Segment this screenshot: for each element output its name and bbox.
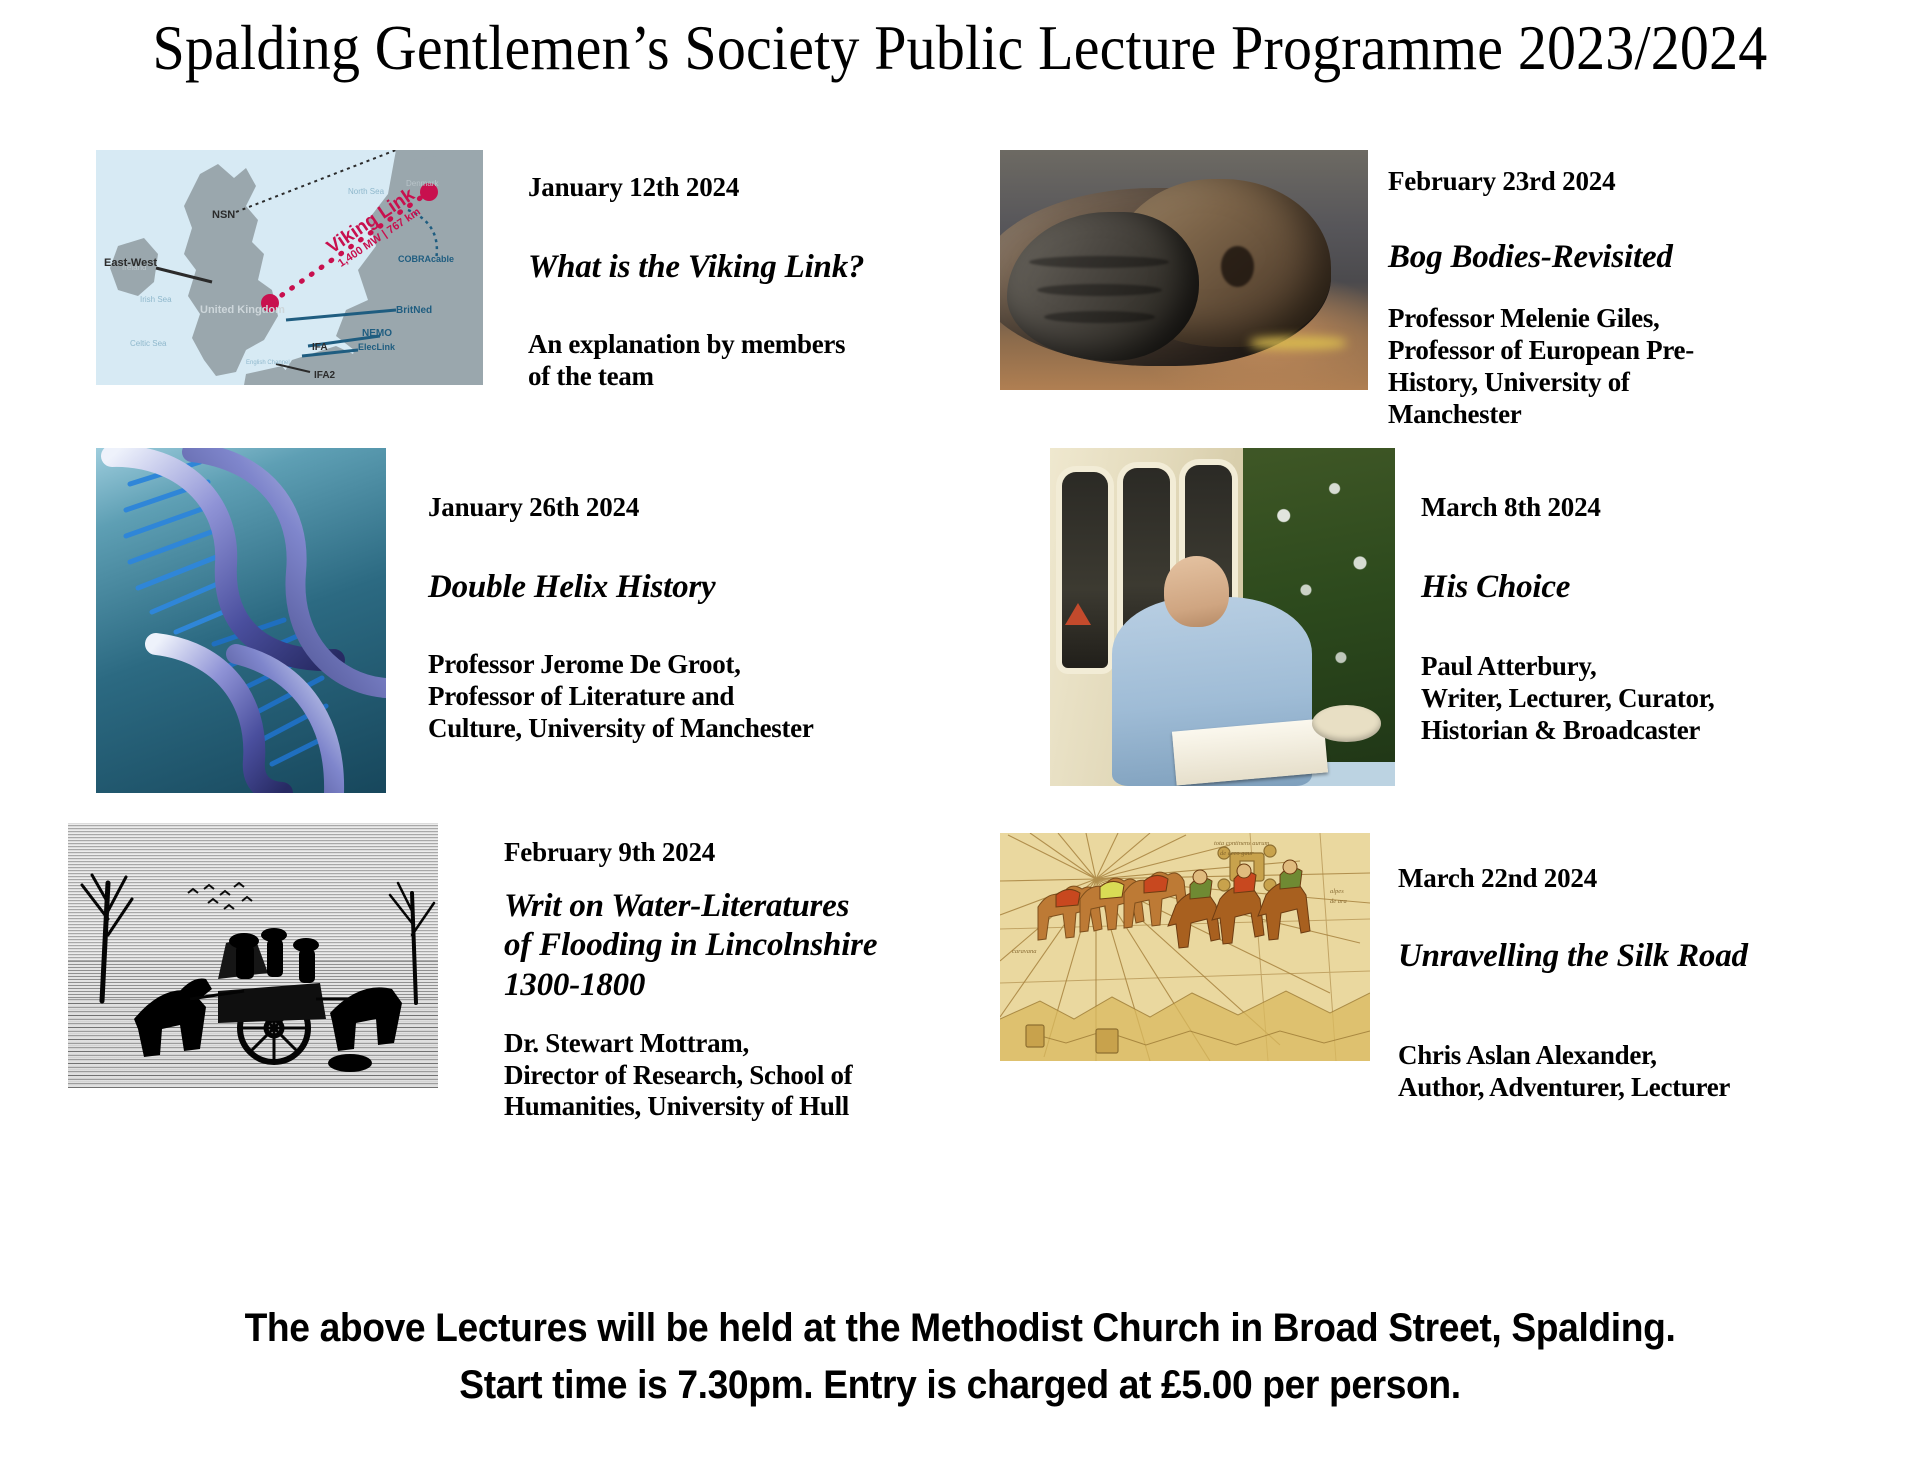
lecture-copy: February 9th 2024 Writ on Water-Literatu… [438, 823, 968, 1123]
bog-body-background-highlight [1250, 337, 1346, 349]
lecture-card-viking-link: North Sea Irish Sea Celtic Sea English C… [96, 150, 936, 393]
lecture-speaker: Professor Melenie Giles, Professor of Eu… [1388, 303, 1870, 430]
svg-text:IFA: IFA [312, 342, 328, 353]
lecture-copy: March 22nd 2024 Unravelling the Silk Roa… [1370, 833, 1890, 1104]
lecture-date: February 23rd 2024 [1388, 166, 1870, 198]
svg-text:North Sea: North Sea [348, 187, 385, 196]
lecture-row-3: February 9th 2024 Writ on Water-Literatu… [0, 823, 1920, 1123]
carriage-window [1062, 472, 1108, 668]
lecture-speaker: Chris Aslan Alexander, Author, Adventure… [1398, 1040, 1890, 1104]
lecture-date: March 8th 2024 [1421, 492, 1880, 524]
lecture-copy: March 8th 2024 His Choice Paul Atterbury… [1395, 448, 1880, 747]
svg-text:caravana: caravana [1012, 948, 1037, 955]
lecture-copy: February 23rd 2024 Bog Bodies-Revisited … [1368, 150, 1870, 431]
svg-text:Irish Sea: Irish Sea [140, 295, 172, 304]
bog-body-crease [1044, 311, 1154, 323]
page-title: Spalding Gentlemen’s Society Public Lect… [77, 14, 1843, 83]
lecture-grid: North Sea Irish Sea Celtic Sea English C… [0, 150, 1920, 1123]
catalan-atlas-silk-road-image: tota continens aurum de ecco gaur alpes … [1000, 833, 1370, 1061]
svg-text:ElecLink: ElecLink [358, 342, 396, 352]
lecture-row-2: January 26th 2024 Double Helix History P… [0, 448, 1920, 793]
venue-details: The above Lectures will be held at the M… [67, 1300, 1853, 1414]
svg-text:alpes: alpes [1330, 888, 1344, 895]
lecture-title: Writ on Water-Literatures of Flooding in… [504, 887, 968, 1006]
viking-link-map-image: North Sea Irish Sea Celtic Sea English C… [96, 150, 483, 385]
lecture-copy: January 26th 2024 Double Helix History P… [386, 448, 946, 745]
svg-text:de ecco gaur: de ecco gaur [1220, 850, 1254, 857]
lecture-speaker: Paul Atterbury, Writer, Lecturer, Curato… [1421, 651, 1880, 747]
lecture-title: Unravelling the Silk Road [1398, 937, 1890, 977]
lecture-date: March 22nd 2024 [1398, 863, 1890, 895]
svg-text:English Channel: English Channel [246, 360, 290, 366]
lecture-title: What is the Viking Link? [528, 248, 936, 288]
lecture-speaker: Dr. Stewart Mottram, Director of Researc… [504, 1028, 968, 1124]
svg-text:BritNed: BritNed [396, 305, 432, 316]
svg-text:United Kingdom: United Kingdom [200, 304, 285, 316]
svg-text:NEMO: NEMO [362, 328, 392, 339]
lecture-date: January 12th 2024 [528, 172, 936, 204]
lecture-title: Bog Bodies-Revisited [1388, 238, 1870, 278]
flood-engraving-image [68, 823, 438, 1088]
venue-line-1: The above Lectures will be held at the M… [67, 1300, 1853, 1357]
lecture-copy: January 12th 2024 What is the Viking Lin… [483, 150, 936, 393]
lecture-card-his-choice: March 8th 2024 His Choice Paul Atterbury… [1050, 448, 1880, 786]
warning-triangle-icon [1065, 603, 1091, 625]
lecture-card-writ-on-water: February 9th 2024 Writ on Water-Literatu… [68, 823, 968, 1123]
lecture-speaker: Professor Jerome De Groot, Professor of … [428, 649, 946, 745]
man-reading-by-railway-carriage-image [1050, 448, 1395, 786]
svg-text:East-West: East-West [104, 257, 157, 269]
bog-body-eye-socket [1221, 246, 1254, 287]
lecture-date: February 9th 2024 [504, 837, 968, 869]
svg-text:tota continens aurum: tota continens aurum [1214, 840, 1270, 847]
dna-double-helix-image [96, 448, 386, 793]
svg-text:IFA2: IFA2 [314, 370, 336, 381]
lecture-title: His Choice [1421, 568, 1880, 608]
lecture-date: January 26th 2024 [428, 492, 946, 524]
bog-body-photo-image [1000, 150, 1368, 390]
lecture-card-bog-bodies: February 23rd 2024 Bog Bodies-Revisited … [1000, 150, 1870, 431]
lecture-card-silk-road: tota continens aurum de ecco gaur alpes … [1000, 833, 1890, 1104]
svg-text:COBRAcable: COBRAcable [398, 254, 454, 264]
lecture-speaker: An explanation by members of the team [528, 329, 936, 393]
bog-body-crease [1029, 256, 1169, 268]
man-head [1164, 556, 1230, 627]
svg-text:Denmark: Denmark [406, 179, 439, 188]
lecture-card-double-helix: January 26th 2024 Double Helix History P… [96, 448, 946, 793]
svg-text:de ara: de ara [1330, 898, 1347, 905]
svg-text:NSN: NSN [212, 209, 235, 221]
lecture-row-1: North Sea Irish Sea Celtic Sea English C… [0, 150, 1920, 420]
lecture-title: Double Helix History [428, 568, 946, 608]
straw-hat [1312, 705, 1381, 742]
svg-text:Celtic Sea: Celtic Sea [130, 339, 167, 348]
venue-line-2: Start time is 7.30pm. Entry is charged a… [67, 1357, 1853, 1414]
